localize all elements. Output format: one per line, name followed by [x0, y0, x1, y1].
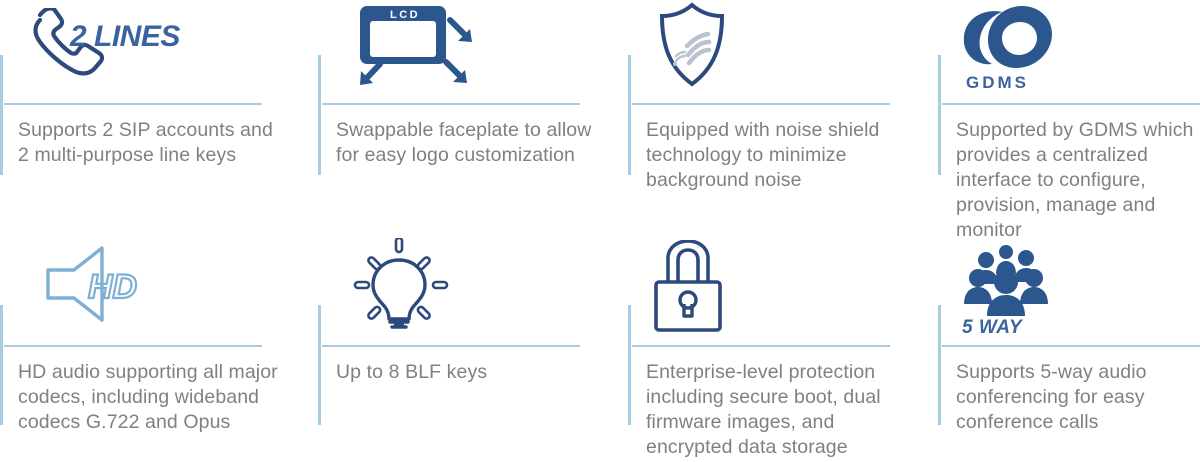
feature-text: HD audio supporting all major codecs, in… [18, 360, 298, 435]
noise-shield-icon [650, 2, 740, 102]
card-accent-rule [938, 55, 941, 175]
feature-text: Supports 2 SIP accounts and 2 multi-purp… [18, 118, 288, 168]
card-divider [322, 103, 580, 105]
icon-label-five-way: 5 WAY [962, 317, 1024, 334]
feature-card-swappable-faceplate: LCD Swappable faceplate to allow for eas… [318, 0, 618, 230]
card-accent-rule [0, 55, 3, 175]
icon-label-gdms: GDMS [966, 73, 1029, 92]
card-accent-rule [628, 55, 631, 175]
gdms-logo-icon: GDMS [956, 0, 1086, 100]
icon-label-two-lines: 2 LINES [69, 20, 180, 53]
feature-card-two-lines: 2 LINES Supports 2 SIP accounts and 2 mu… [0, 0, 300, 230]
feature-card-gdms-support: GDMS Supported by GDMS which provides a … [938, 0, 1200, 230]
feature-grid: 2 LINES Supports 2 SIP accounts and 2 mu… [0, 0, 1200, 462]
card-divider [632, 103, 890, 105]
feature-card-five-way-conference: 5 WAY Supports 5-way audio conferencing … [938, 230, 1200, 462]
feature-text: Enterprise-level protection including se… [646, 360, 916, 460]
card-divider [322, 345, 580, 347]
conference-people-icon: 5 WAY [956, 244, 1076, 344]
phone-handset-icon: 2 LINES [22, 8, 202, 108]
card-divider [942, 103, 1200, 105]
icon-label-lcd: LCD [390, 9, 420, 21]
feature-card-noise-shield: Equipped with noise shield technology to… [628, 0, 928, 230]
feature-text: Swappable faceplate to allow for easy lo… [336, 118, 616, 168]
feature-text: Up to 8 BLF keys [336, 360, 616, 385]
feature-text: Supports 5-way audio conferencing for ea… [956, 360, 1200, 435]
feature-card-blf-keys: Up to 8 BLF keys [318, 230, 618, 462]
card-accent-rule [318, 305, 321, 425]
padlock-icon [650, 240, 740, 340]
card-accent-rule [628, 305, 631, 425]
feature-card-enterprise-protection: Enterprise-level protection including se… [628, 230, 928, 462]
lcd-faceplate-icon: LCD [346, 2, 486, 102]
card-divider [632, 345, 890, 347]
hd-speaker-icon: HD [22, 242, 172, 342]
card-accent-rule [938, 305, 941, 425]
card-accent-rule [318, 55, 321, 175]
card-accent-rule [0, 305, 3, 425]
lightbulb-icon [344, 238, 454, 338]
feature-text: Equipped with noise shield technology to… [646, 118, 916, 193]
feature-text: Supported by GDMS which provides a centr… [956, 118, 1200, 243]
card-divider [942, 345, 1200, 347]
icon-label-hd: HD [88, 268, 137, 306]
feature-card-hd-audio: HD HD audio supporting all major codecs,… [0, 230, 300, 462]
card-divider [4, 345, 262, 347]
